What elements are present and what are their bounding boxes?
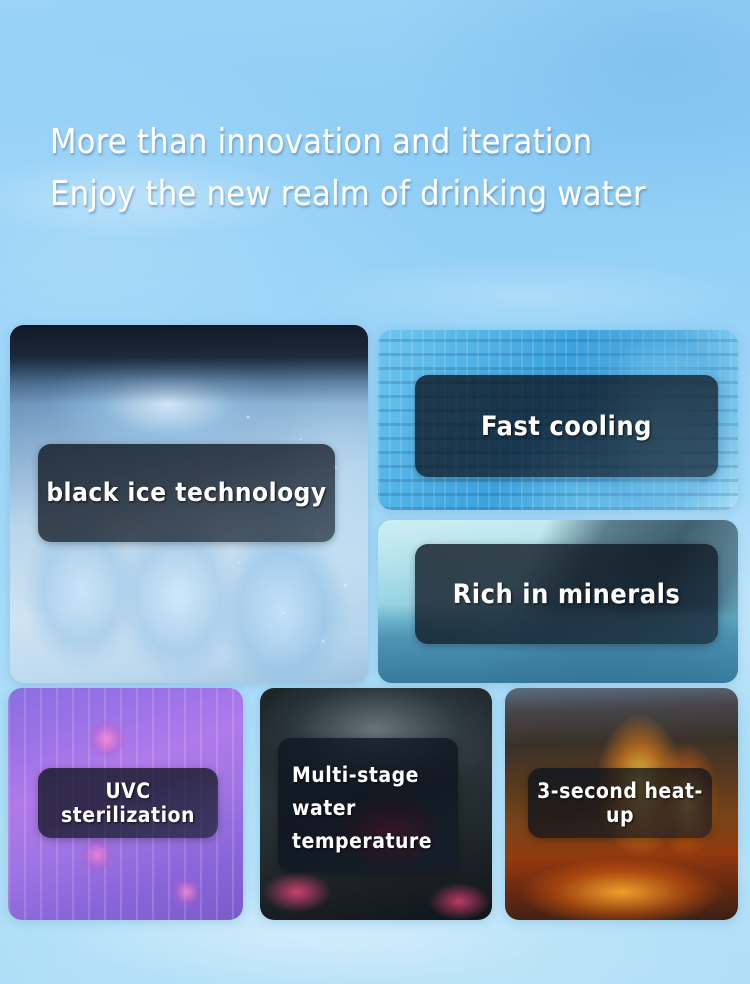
rich-in-minerals-label: Rich in minerals — [415, 579, 718, 610]
multi-stage-water-temperature-label-badge: Multi-stage water temperature — [278, 738, 458, 872]
fast-cooling-label: Fast cooling — [415, 411, 718, 442]
feature-card-black-ice-technology[interactable]: black ice technology — [10, 325, 368, 683]
multi-stage-label-line-3: temperature — [292, 829, 432, 853]
multi-stage-water-temperature-label: Multi-stage water temperature — [292, 759, 458, 858]
uvc-sterilization-label-badge: UVC sterilization — [38, 768, 218, 838]
three-second-heat-up-label: 3-second heat-up — [528, 779, 712, 827]
headline-block: More than innovation and iteration Enjoy… — [50, 116, 710, 220]
feature-card-fast-cooling[interactable]: Fast cooling — [378, 330, 738, 510]
three-second-heat-up-label-badge: 3-second heat-up — [528, 768, 712, 838]
uvc-sterilization-label: UVC sterilization — [38, 779, 218, 827]
promo-banner: More than innovation and iteration Enjoy… — [0, 0, 750, 984]
feature-card-three-second-heat-up[interactable]: 3-second heat-up — [505, 688, 738, 920]
black-ice-technology-label-badge: black ice technology — [38, 444, 335, 542]
rich-in-minerals-label-badge: Rich in minerals — [415, 544, 718, 644]
feature-card-rich-in-minerals[interactable]: Rich in minerals — [378, 520, 738, 683]
black-ice-technology-label: black ice technology — [38, 478, 335, 508]
headline-line-1: More than innovation and iteration — [50, 116, 710, 168]
headline-line-2: Enjoy the new realm of drinking water — [50, 168, 710, 220]
fast-cooling-label-badge: Fast cooling — [415, 375, 718, 477]
multi-stage-label-line-1: Multi-stage — [292, 763, 419, 787]
feature-card-multi-stage-water-temperature[interactable]: Multi-stage water temperature — [260, 688, 492, 920]
multi-stage-label-line-2: water — [292, 796, 356, 820]
